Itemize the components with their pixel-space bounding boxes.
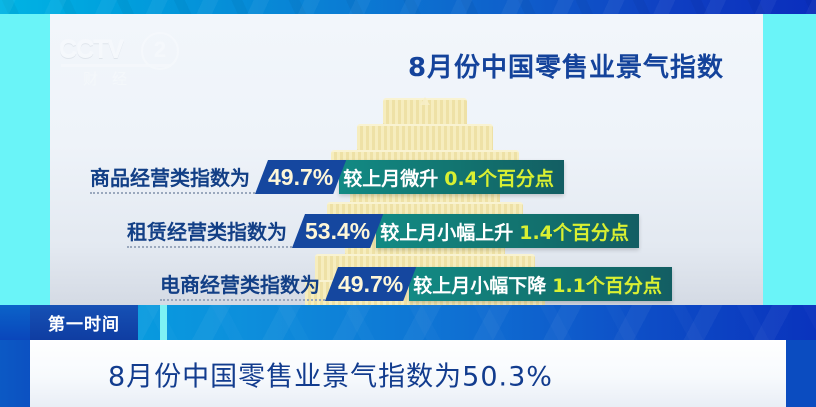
news-ticker: 8月份中国零售业景气指数为50.3% [0,340,816,407]
logo-underline [61,64,171,67]
row-note-highlight: 1.1个百分点 [552,271,662,298]
program-tag-accent-line [160,305,167,340]
tv-broadcast-screen: CCTV 2 财经 8月份中国零售业景气指数 商品经营类指数为 49.7% 较上 [0,0,816,407]
row-label: 商品经营类指数为 [90,160,259,194]
row-value: 49.7% [255,160,346,194]
row-note: 较上月小幅下降 1.1个百分点 [409,267,672,301]
cctv2-logo-watermark: CCTV 2 财经 [55,32,185,94]
row-label: 电商经营类指数为 [160,267,329,301]
top-gradient-strip [0,0,816,14]
row-note: 较上月微升 0.4个百分点 [339,160,564,194]
row-value: 53.4% [292,214,383,248]
graphic-stage: CCTV 2 财经 8月份中国零售业景气指数 商品经营类指数为 49.7% 较上 [50,14,763,305]
row-note-highlight: 0.4个百分点 [444,164,554,191]
row-note-prefix: 较上月微升 [343,164,438,191]
ticker-headline: 8月份中国零售业景气指数为50.3% [108,354,553,393]
row-label: 租赁经营类指数为 [127,214,296,248]
program-banner: 第一时间 [0,305,816,340]
data-row: 商品经营类指数为 49.7% 较上月微升 0.4个百分点 [90,160,564,194]
right-cyan-rail [763,14,816,305]
coin-sparkle-icon [420,97,430,105]
coin-layer-2 [357,124,493,152]
row-note-prefix: 较上月小幅下降 [413,271,546,298]
data-row: 电商经营类指数为 49.7% 较上月小幅下降 1.1个百分点 [160,267,672,301]
row-note-highlight: 1.4个百分点 [519,218,629,245]
row-note: 较上月小幅上升 1.4个百分点 [376,214,639,248]
channel-name-label: 财经 [83,68,141,89]
row-value: 49.7% [325,267,416,301]
channel-number: 2 [141,32,179,70]
banner-left-edge [0,305,30,340]
row-note-prefix: 较上月小幅上升 [380,218,513,245]
program-tag: 第一时间 [30,305,138,340]
page-title: 8月份中国零售业景气指数 [380,47,752,84]
cctv-wordmark: CCTV [59,36,123,65]
top-strip-pattern [0,0,816,14]
left-cyan-rail [0,14,50,305]
data-row: 租赁经营类指数为 53.4% 较上月小幅上升 1.4个百分点 [127,214,639,248]
coin-layer-1 [383,98,467,126]
